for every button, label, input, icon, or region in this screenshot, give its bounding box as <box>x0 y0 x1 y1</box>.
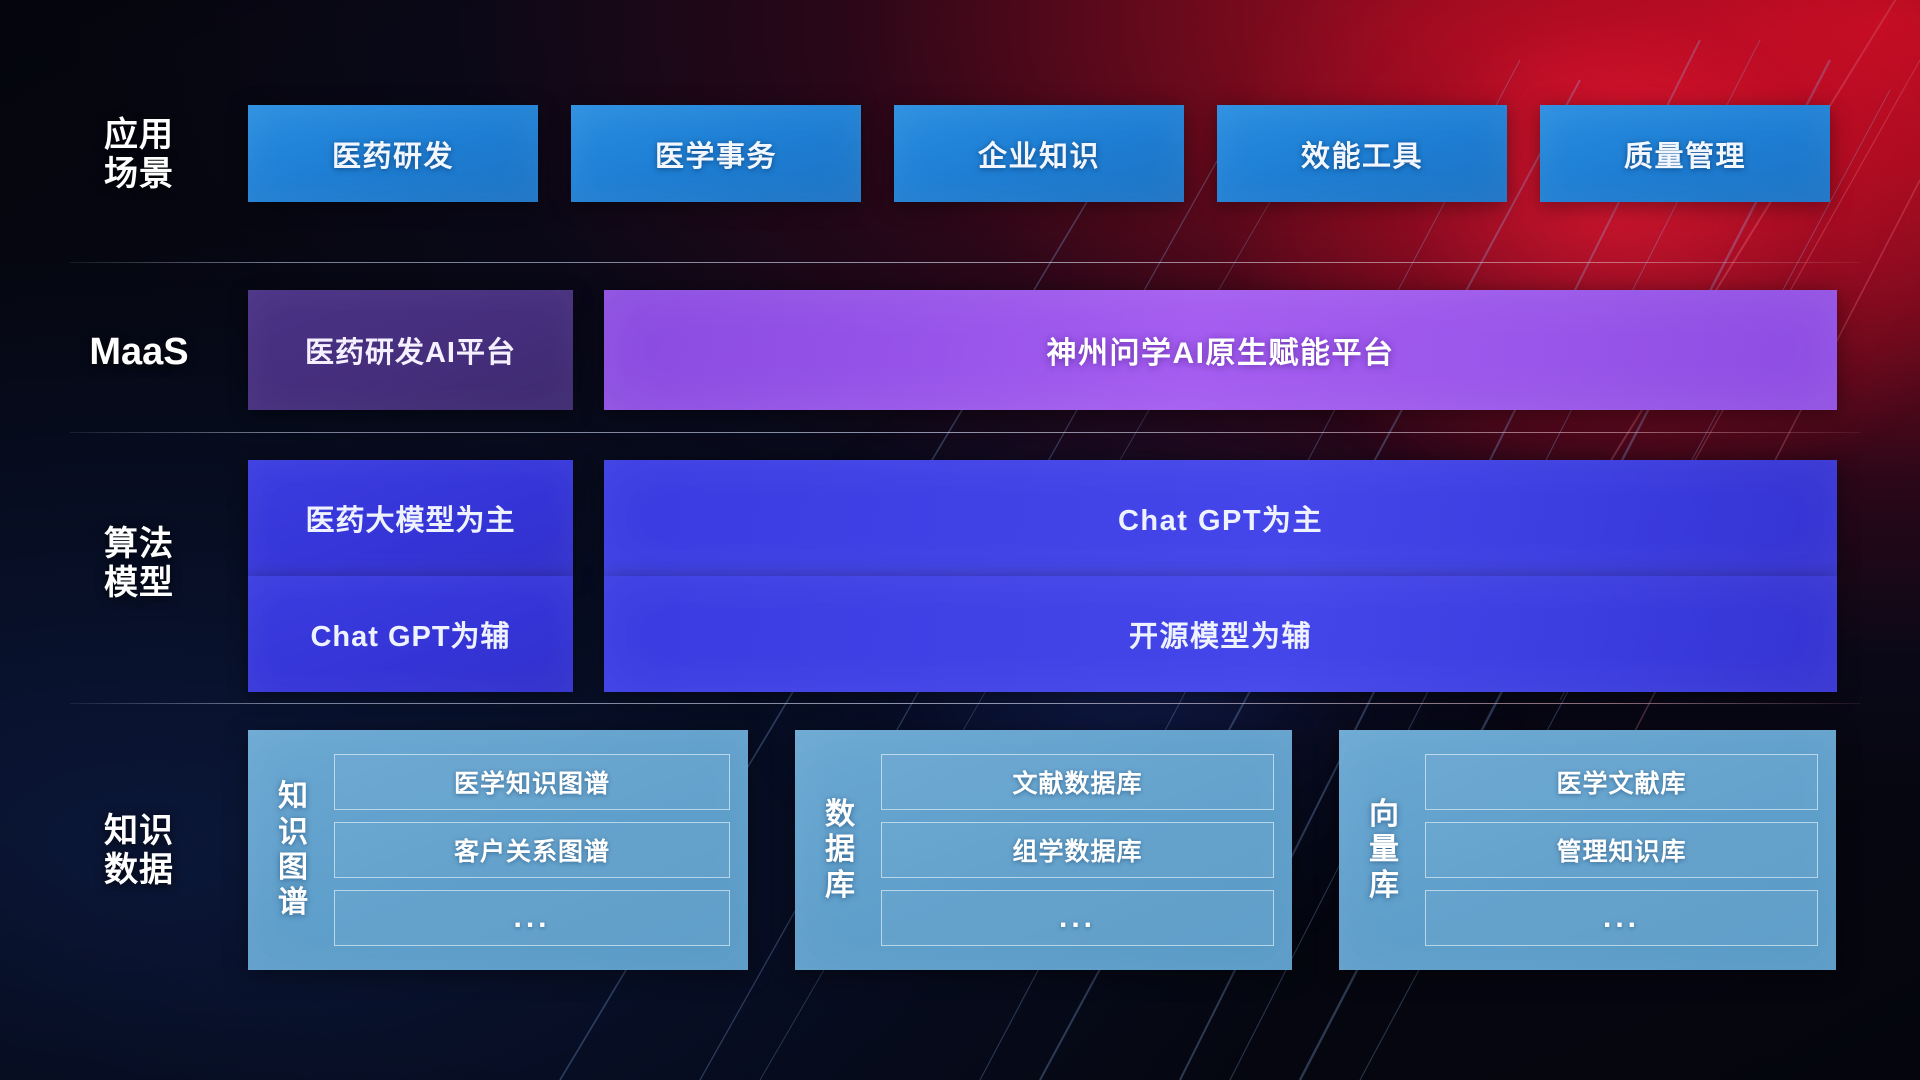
algo-box-opensource-model-secondary[interactable]: 开源模型为辅 <box>604 576 1837 692</box>
app-box-quality-management[interactable]: 质量管理 <box>1540 105 1830 202</box>
tier-label-algorithm: 算法 模型 <box>78 525 200 604</box>
app-box-medicine-rd[interactable]: 医药研发 <box>248 105 538 202</box>
knowledge-panel-label-vector-store: 向量库 <box>1353 797 1415 903</box>
knowledge-item-more-graph[interactable]: ... <box>334 890 730 946</box>
app-box-enterprise-knowledge[interactable]: 企业知识 <box>894 105 1184 202</box>
knowledge-item-more-vector[interactable]: ... <box>1425 890 1818 946</box>
tier-label-knowledge: 知识 数据 <box>78 812 200 891</box>
knowledge-panel-row: 知识图谱 医学知识图谱 客户关系图谱 ... 数据库 文献数据库 组学数据库 .… <box>248 730 1836 970</box>
knowledge-item-omics-database[interactable]: 组学数据库 <box>881 822 1274 878</box>
knowledge-item-customer-relation-graph[interactable]: 客户关系图谱 <box>334 822 730 878</box>
maas-box-medicine-ai-platform[interactable]: 医药研发AI平台 <box>248 290 573 410</box>
knowledge-panel-knowledge-graph[interactable]: 知识图谱 医学知识图谱 客户关系图谱 ... <box>248 730 748 970</box>
knowledge-panel-label-knowledge-graph: 知识图谱 <box>262 779 324 921</box>
knowledge-item-management-knowledge-store[interactable]: 管理知识库 <box>1425 822 1818 878</box>
tier-label-algorithm-line1: 算法 <box>78 525 200 564</box>
knowledge-panel-label-database: 数据库 <box>809 797 871 903</box>
app-box-medical-affairs[interactable]: 医学事务 <box>571 105 861 202</box>
tier-label-application: 应用 场景 <box>78 116 200 195</box>
architecture-diagram: 应用 场景 医药研发 医学事务 企业知识 效能工具 质量管理 MaaS 医药研发… <box>0 0 1920 1080</box>
knowledge-item-medical-knowledge-graph[interactable]: 医学知识图谱 <box>334 754 730 810</box>
tier-label-algorithm-line2: 模型 <box>78 564 200 603</box>
tier-label-application-line2: 场景 <box>78 155 200 194</box>
divider-maas-algorithm <box>70 432 1860 433</box>
algo-box-chatgpt-primary[interactable]: Chat GPT为主 <box>604 460 1837 576</box>
tier-label-application-line1: 应用 <box>78 116 200 155</box>
algo-box-medicine-large-model-primary[interactable]: 医药大模型为主 <box>248 460 573 576</box>
maas-box-shenzhou-wenxue-platform[interactable]: 神州问学AI原生赋能平台 <box>604 290 1837 410</box>
knowledge-item-literature-database[interactable]: 文献数据库 <box>881 754 1274 810</box>
knowledge-item-more-database[interactable]: ... <box>881 890 1274 946</box>
knowledge-panel-vector-store[interactable]: 向量库 医学文献库 管理知识库 ... <box>1339 730 1836 970</box>
application-box-row: 医药研发 医学事务 企业知识 效能工具 质量管理 <box>248 105 1830 202</box>
tier-label-knowledge-line2: 数据 <box>78 851 200 890</box>
tier-label-knowledge-line1: 知识 <box>78 812 200 851</box>
knowledge-item-list-vector-store: 医学文献库 管理知识库 ... <box>1415 754 1818 946</box>
knowledge-panel-database[interactable]: 数据库 文献数据库 组学数据库 ... <box>795 730 1292 970</box>
algo-box-chatgpt-secondary[interactable]: Chat GPT为辅 <box>248 576 573 692</box>
divider-application-maas <box>70 262 1860 263</box>
knowledge-item-list-knowledge-graph: 医学知识图谱 客户关系图谱 ... <box>324 754 730 946</box>
knowledge-item-medical-literature-store[interactable]: 医学文献库 <box>1425 754 1818 810</box>
knowledge-item-list-database: 文献数据库 组学数据库 ... <box>871 754 1274 946</box>
app-box-efficiency-tools[interactable]: 效能工具 <box>1217 105 1507 202</box>
tier-label-maas: MaaS <box>78 330 200 374</box>
divider-algorithm-knowledge <box>70 703 1860 704</box>
